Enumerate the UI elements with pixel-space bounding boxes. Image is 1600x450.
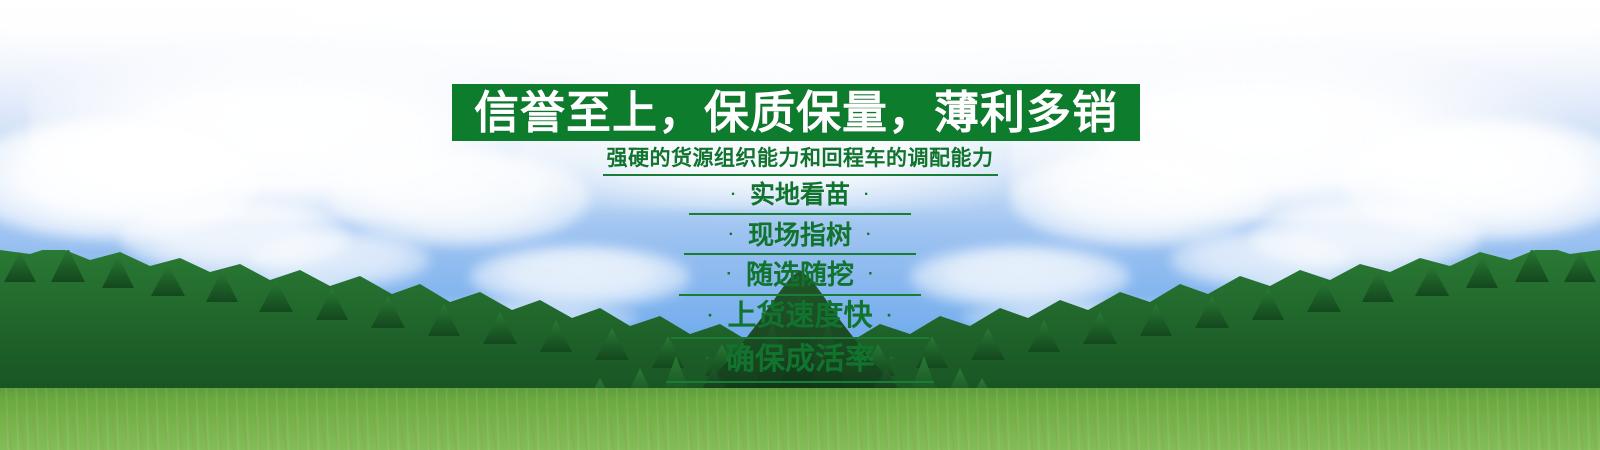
bullet-dot-icon: ·: [726, 266, 732, 283]
subtitle: 强硬的货源组织能力和回程车的调配能力: [0, 146, 1600, 176]
feature-divider: [679, 294, 921, 296]
bullet-dot-icon: ·: [866, 226, 871, 242]
bullet-dot-icon: ·: [889, 349, 895, 368]
feature-item: · 实地看苗 ·: [0, 180, 1600, 215]
crop-field: [0, 388, 1600, 450]
feature-label: 确保成活率: [725, 345, 875, 375]
feature-divider: [666, 381, 934, 383]
feature-divider: [684, 253, 916, 255]
bullet-dot-icon: ·: [731, 187, 736, 203]
feature-divider: [671, 337, 929, 339]
feature-label: 实地看苗: [750, 183, 850, 208]
bullet-dot-icon: ·: [705, 349, 711, 368]
bullet-dot-icon: ·: [887, 306, 893, 324]
headline-text: 信誉至上，保质保量，薄利多销: [474, 90, 1118, 135]
bullet-dot-icon: ·: [729, 226, 734, 242]
headline-bar: 信誉至上，保质保量，薄利多销: [452, 84, 1140, 141]
bullet-dot-icon: ·: [868, 266, 874, 283]
feature-item: · 现场指树 ·: [0, 218, 1600, 255]
feature-item: · 上货速度快 ·: [0, 299, 1600, 339]
subtitle-text: 强硬的货源组织能力和回程车的调配能力: [603, 146, 998, 176]
feature-label: 现场指树: [748, 222, 852, 248]
feature-item: · 随选随挖 ·: [0, 258, 1600, 296]
bullet-dot-icon: ·: [708, 306, 714, 324]
feature-divider: [689, 213, 911, 215]
bullet-dot-icon: ·: [864, 187, 869, 203]
feature-label: 随选随挖: [746, 262, 854, 289]
promotional-banner: 信誉至上，保质保量，薄利多销 强硬的货源组织能力和回程车的调配能力 · 实地看苗…: [0, 0, 1600, 450]
feature-item: · 确保成活率 ·: [0, 342, 1600, 383]
feature-list: · 实地看苗 · · 现场指树 · · 随选随挖: [0, 180, 1600, 383]
feature-label: 上货速度快: [727, 302, 872, 331]
crop-rows-foreground: [0, 416, 1600, 450]
